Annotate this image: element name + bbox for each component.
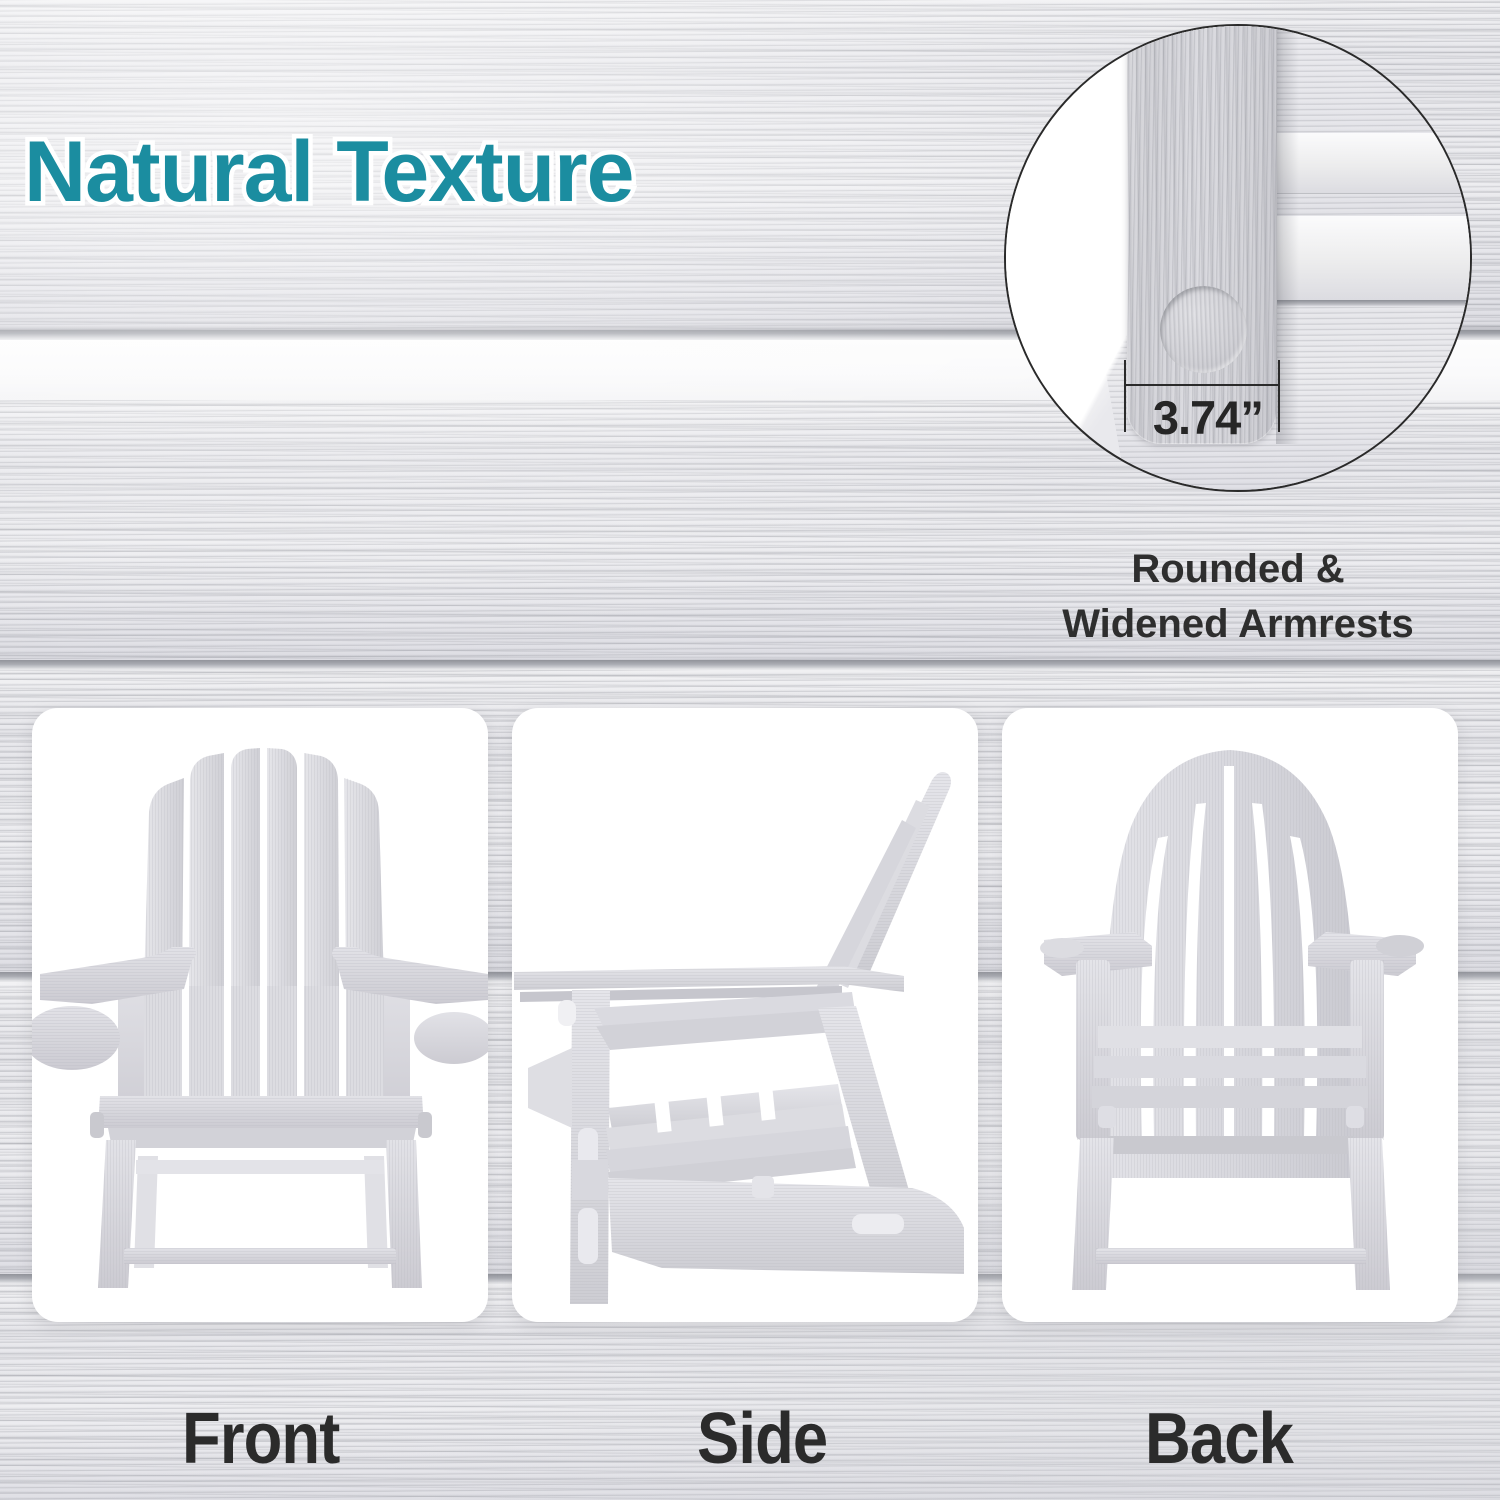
foot-block-left — [572, 1160, 608, 1200]
chair-side-illustration — [512, 708, 978, 1322]
view-labels: Front Side Back — [0, 1398, 1500, 1484]
page-title: Natural Texture — [24, 129, 633, 215]
side-view-adirondack-chair — [512, 708, 978, 1322]
seat-slats-back — [1092, 1026, 1368, 1108]
seat-lower-edge — [108, 1128, 416, 1148]
folding-hinge-left — [90, 1112, 104, 1138]
view-label-back: Back — [1145, 1398, 1293, 1480]
cup-holder-hole-right — [1376, 935, 1424, 957]
back-view-adirondack-chair — [1002, 708, 1458, 1322]
callout-caption-line-1: Rounded & — [1004, 542, 1472, 597]
chair-front-illustration — [32, 708, 488, 1322]
product-card-side[interactable] — [512, 708, 978, 1322]
chair-back-illustration — [1002, 708, 1458, 1322]
product-view-cards — [0, 708, 1500, 1322]
front-view-adirondack-chair — [32, 708, 488, 1322]
armrest-detail-callout: 3.74” — [1004, 24, 1472, 492]
folding-hinge-pin — [558, 1000, 576, 1026]
leg-slot-lower — [578, 1208, 598, 1264]
product-card-back[interactable] — [1002, 708, 1458, 1322]
cup-holder-tray-right — [414, 1012, 488, 1064]
callout-caption: Rounded & Widened Armrests — [1004, 542, 1472, 652]
under-seat-bar — [136, 1160, 384, 1174]
lower-rail — [1106, 1136, 1356, 1154]
dimension-value: 3.74” — [1103, 390, 1312, 445]
view-label-front: Front — [182, 1398, 339, 1480]
hinge-block-left — [1098, 1106, 1116, 1128]
folding-hinge-right — [418, 1112, 432, 1138]
dimension-bar — [1124, 384, 1280, 386]
view-label-side: Side — [697, 1398, 827, 1480]
product-card-front[interactable] — [32, 708, 488, 1322]
cup-holder-hole-left — [1040, 938, 1084, 958]
seat-slats-side — [606, 1084, 856, 1194]
hinge-block-right — [1346, 1106, 1364, 1128]
foot-wedge-left — [528, 1048, 572, 1128]
callout-caption-line-2: Widened Armrests — [1004, 597, 1472, 652]
hinge-square — [752, 1176, 774, 1198]
runner-slot — [852, 1214, 904, 1234]
product-feature-image: Natural Texture 3.74” Rounded & Widened … — [0, 0, 1500, 1500]
